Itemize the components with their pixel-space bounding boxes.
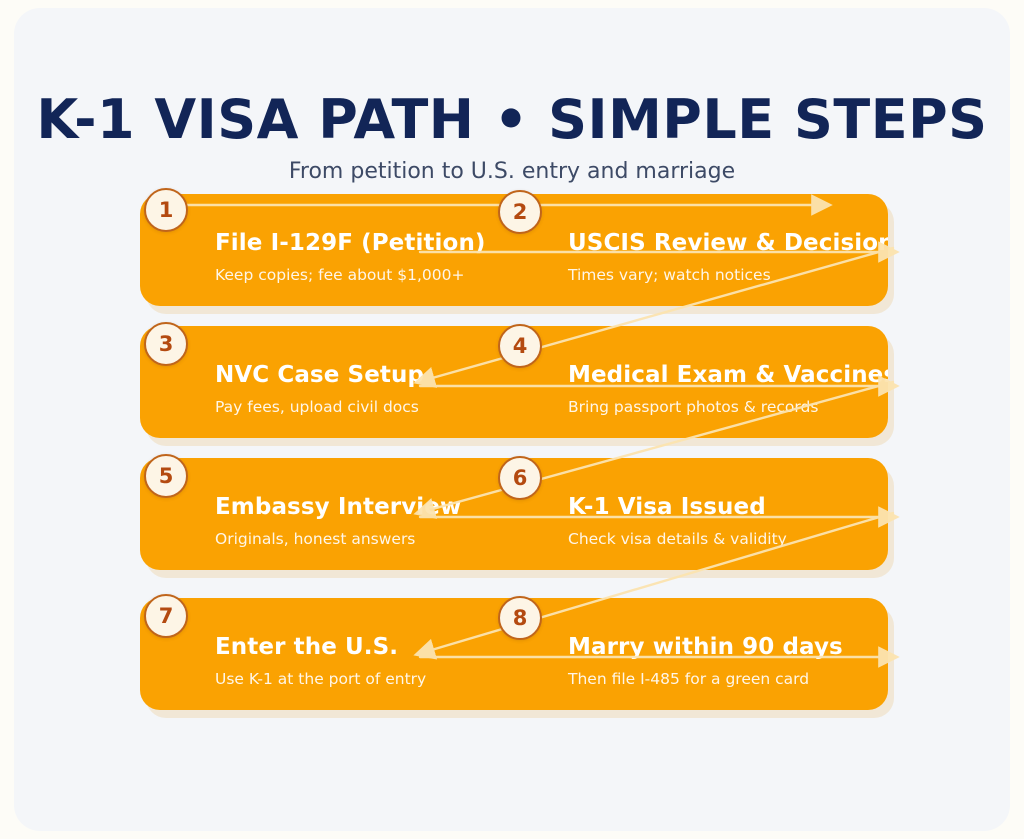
step-desc: Originals, honest answers: [215, 530, 415, 548]
step-cell-2[interactable]: USCIS Review & Decision Times vary; watc…: [514, 194, 888, 306]
step-cell-7[interactable]: Enter the U.S. Use K-1 at the port of en…: [140, 598, 514, 710]
step-title: Medical Exam & Vaccines: [568, 362, 888, 388]
step-title: Enter the U.S.: [215, 634, 398, 660]
step-badge-3[interactable]: 3: [144, 322, 188, 366]
step-badge-1[interactable]: 1: [144, 188, 188, 232]
step-badge-2[interactable]: 2: [498, 190, 542, 234]
step-title: USCIS Review & Decision: [568, 230, 888, 256]
step-cell-4[interactable]: Medical Exam & Vaccines Bring passport p…: [514, 326, 888, 438]
step-title: Embassy Interview: [215, 494, 461, 520]
step-title: K-1 Visa Issued: [568, 494, 766, 520]
step-cell-1[interactable]: File I-129F (Petition) Keep copies; fee …: [140, 194, 514, 306]
step-badge-5[interactable]: 5: [144, 454, 188, 498]
step-desc: Times vary; watch notices: [568, 266, 771, 284]
step-desc: Then file I-485 for a green card: [568, 670, 809, 688]
step-desc: Use K-1 at the port of entry: [215, 670, 426, 688]
header: K-1 VISA PATH • SIMPLE STEPS From petiti…: [0, 92, 1024, 185]
step-cell-6[interactable]: K-1 Visa Issued Check visa details & val…: [514, 458, 888, 570]
step-title: NVC Case Setup: [215, 362, 424, 388]
step-badge-4[interactable]: 4: [498, 324, 542, 368]
step-cell-3[interactable]: NVC Case Setup Pay fees, upload civil do…: [140, 326, 514, 438]
step-badge-8[interactable]: 8: [498, 596, 542, 640]
page-title: K-1 VISA PATH • SIMPLE STEPS: [0, 92, 1024, 149]
step-desc: Pay fees, upload civil docs: [215, 398, 419, 416]
step-desc: Bring passport photos & records: [568, 398, 818, 416]
step-cell-8[interactable]: Marry within 90 days Then file I-485 for…: [514, 598, 888, 710]
step-desc: Keep copies; fee about $1,000+: [215, 266, 464, 284]
step-desc: Check visa details & validity: [568, 530, 787, 548]
page-subtitle: From petition to U.S. entry and marriage: [0, 159, 1024, 185]
step-title: File I-129F (Petition): [215, 230, 486, 256]
step-badge-6[interactable]: 6: [498, 456, 542, 500]
step-badge-7[interactable]: 7: [144, 594, 188, 638]
step-cell-5[interactable]: Embassy Interview Originals, honest answ…: [140, 458, 514, 570]
step-title: Marry within 90 days: [568, 634, 843, 660]
